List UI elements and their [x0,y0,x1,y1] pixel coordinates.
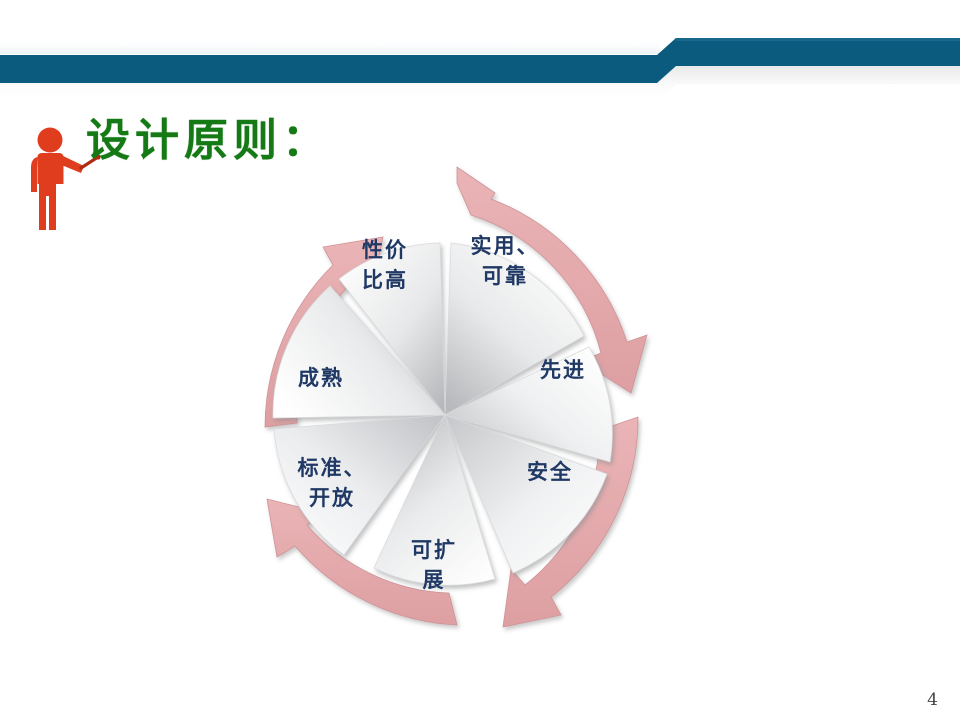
page-title: 设计原则： [86,112,331,170]
header-band [0,38,960,84]
pie-segments [273,243,612,585]
cycle-wheel-diagram: 实用、 可靠 先进 安全 可扩 展 标准、 开放 成熟 性价 比高 [195,165,695,665]
slide-canvas: 设计原则： [0,0,960,720]
page-number: 4 [927,690,938,710]
